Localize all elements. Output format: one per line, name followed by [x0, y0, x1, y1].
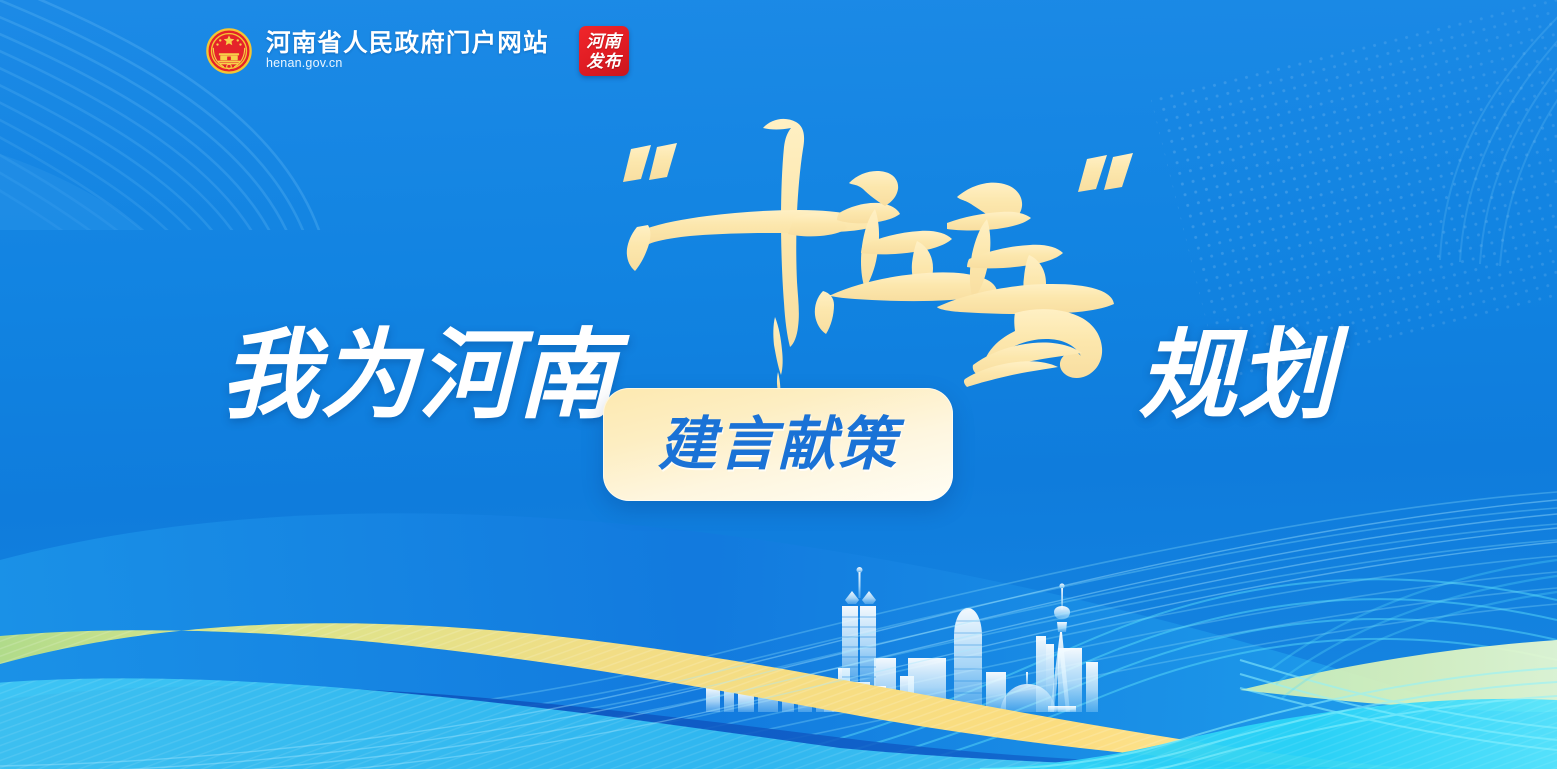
ribbon-deep-blue	[0, 686, 1557, 769]
site-name[interactable]: 河南省人民政府门户网站	[266, 31, 549, 57]
headline-suffix: 规划	[1139, 326, 1337, 424]
wave-layer-back	[0, 0, 1557, 769]
calligraphy-char-shi	[626, 119, 877, 397]
midrise-block-b	[986, 672, 1006, 712]
quote-open-mark	[623, 143, 677, 182]
ribbon-cyan-right	[940, 699, 1557, 769]
headline-prefix: 我为河南	[220, 326, 616, 424]
convention-center	[1000, 672, 1056, 712]
ribbon-pale-green	[1240, 640, 1557, 712]
top-right-dot-grid	[1150, 0, 1557, 386]
submit-suggestion-button[interactable]: 建言献策	[603, 388, 953, 501]
ribbon-cyan-left	[0, 678, 1557, 769]
wave-strands-right	[980, 660, 1557, 769]
calligraphy-char-wu-2	[937, 183, 1114, 387]
badge-line-1: 河南	[586, 33, 621, 50]
building-cluster-left	[706, 658, 914, 712]
badge-line-2: 发布	[586, 53, 621, 70]
midrise-block-a	[908, 658, 946, 712]
wave-cyan-arcs	[700, 579, 1557, 769]
site-url[interactable]: henan.gov.cn	[266, 57, 549, 71]
campaign-banner: 河南省人民政府门户网站 henan.gov.cn 河南 发布 我为河南	[0, 0, 1557, 769]
wave-layer-front	[0, 0, 1557, 769]
brand-text-block: 河南省人民政府门户网站 henan.gov.cn	[266, 31, 549, 71]
building-cluster-right	[1036, 636, 1098, 712]
wave-swirl-upper-right	[1270, 560, 1557, 698]
calligraphy-char-wu-1	[814, 171, 996, 334]
wave-stripe-family-back	[0, 492, 1557, 769]
wave-filaments-center	[0, 500, 1557, 769]
right-edge-arcs	[1440, 0, 1557, 266]
site-header: 河南省人民政府门户网站 henan.gov.cn 河南 发布	[206, 26, 629, 76]
ribbon-yellow	[0, 623, 1420, 769]
wave-blue-base	[0, 513, 1557, 769]
top-decoration-layer	[0, 0, 1557, 769]
zhongyuan-tv-tower	[1048, 583, 1076, 712]
erqi-memorial-tower	[824, 567, 894, 712]
quote-close-mark	[1078, 153, 1133, 192]
henan-release-badge[interactable]: 河南 发布	[579, 26, 629, 76]
zhengzhou-skyline	[0, 0, 1557, 769]
corn-tower	[954, 608, 982, 712]
china-national-emblem-icon	[206, 28, 252, 74]
cta-label: 建言献策	[658, 416, 898, 474]
